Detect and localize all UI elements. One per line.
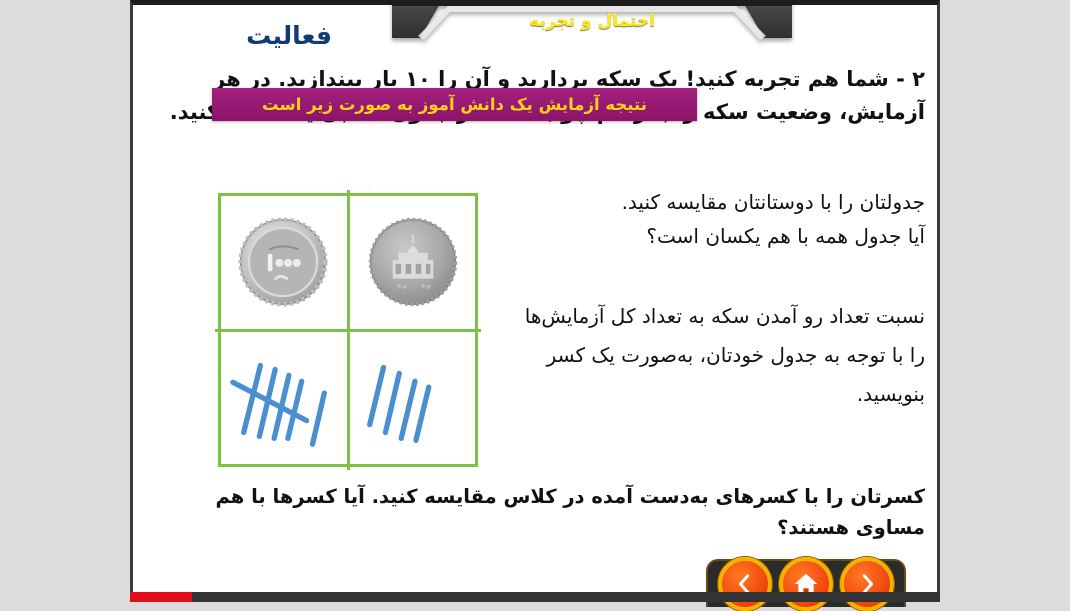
header-ribbon [392, 0, 792, 46]
footer-bar [192, 592, 940, 602]
table-cell-tally-four [348, 330, 478, 467]
section-title: فعالیت [246, 21, 332, 50]
next-button[interactable] [840, 557, 894, 611]
screen: فعالیت ۲ - شما هم تجربه کنید! یک سکه برد… [0, 0, 1070, 602]
question-a-line1: جدولتان را با دوستانتان مقایسه کنید. [515, 185, 925, 219]
table-cell-coin-tails [218, 193, 348, 330]
home-button[interactable] [779, 557, 833, 611]
tail-paragraph: کسرتان را با کسرهای به‌دست آمده در کلاس … [143, 481, 925, 543]
tally-table [218, 193, 478, 467]
prev-button[interactable] [718, 557, 772, 611]
overlay-banner: نتیجه آزمایش یک دانش آموز به صورت زیر اس… [212, 88, 697, 121]
tally-marks-four-icon [354, 349, 472, 449]
coin-heads-icon [367, 216, 459, 308]
footer-left-gap [0, 592, 130, 602]
question-a: جدولتان را با دوستانتان مقایسه کنید. آیا… [515, 185, 925, 254]
table-cell-tally-six [218, 330, 348, 467]
table-cell-coin-heads [348, 193, 478, 330]
tally-marks-six-icon [224, 349, 342, 449]
ribbon-shape-icon [392, 0, 792, 46]
question-a-line2: آیا جدول همه با هم یکسان است؟ [515, 219, 925, 253]
question-b: نسبت تعداد رو آمدن سکه به تعداد کل آزمای… [515, 297, 925, 414]
faint-table-mark: · · [346, 183, 386, 195]
coin-tails-icon [237, 216, 329, 308]
footer-accent [130, 592, 192, 602]
